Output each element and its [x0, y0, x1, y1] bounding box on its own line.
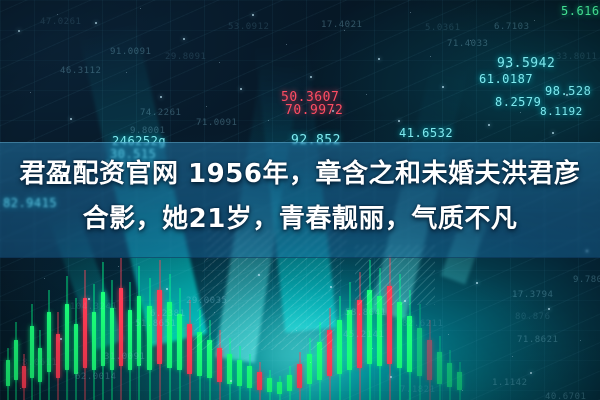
headline-line-2: 合影，她21岁，青春靓丽，气质不凡 — [0, 197, 600, 242]
band-top-edge — [0, 142, 600, 143]
headline-line-1: 君盈配资官网 1956年，章含之和未婚夫洪君彦 — [0, 152, 600, 197]
headline: 君盈配资官网 1956年，章含之和未婚夫洪君彦 合影，她21岁，青春靓丽，气质不… — [0, 152, 600, 242]
band-bottom-edge — [0, 257, 600, 258]
financial-banner-image: 47.026191.009146.311229.809174.22619.800… — [0, 0, 600, 400]
